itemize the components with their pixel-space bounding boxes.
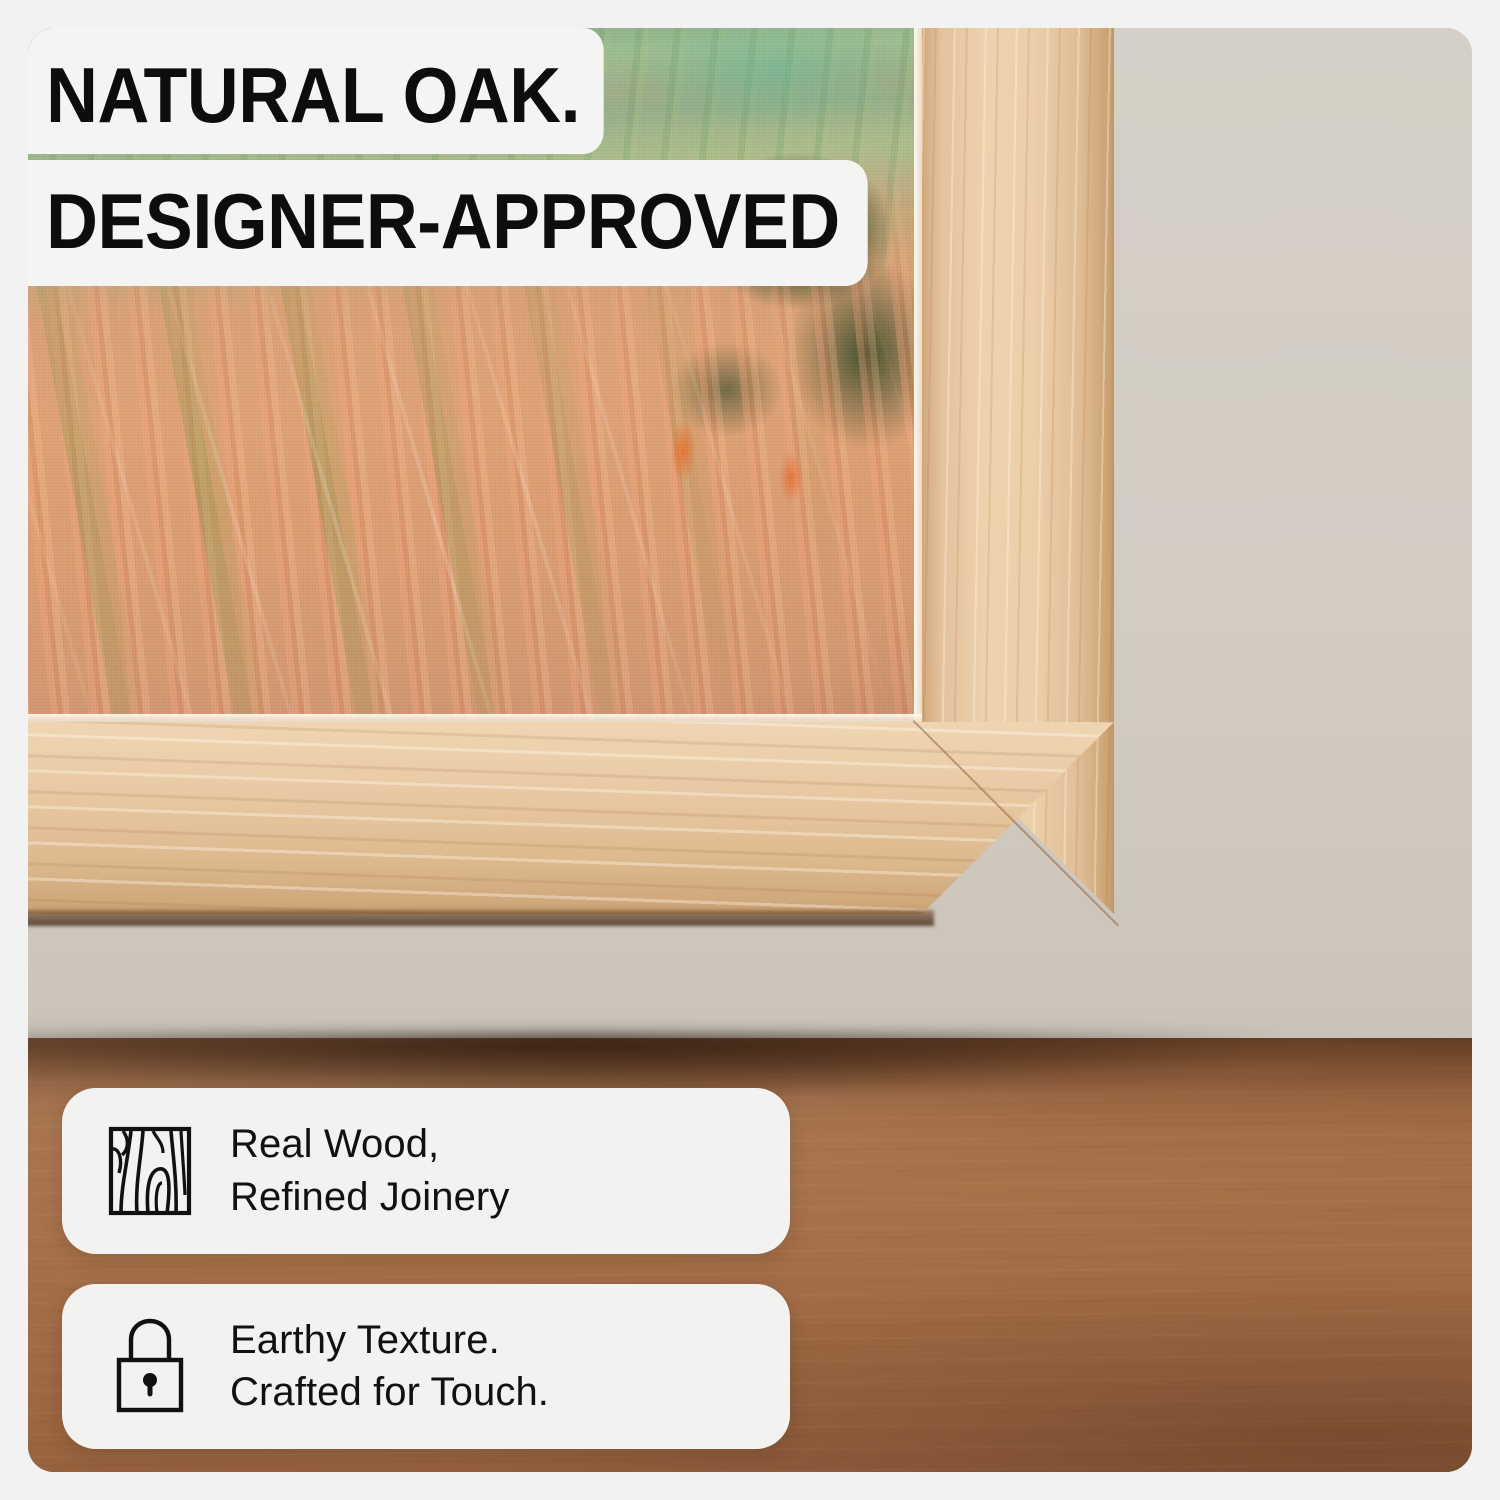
- feature-badge-earthy-texture[interactable]: Earthy Texture. Crafted for Touch.: [62, 1284, 790, 1450]
- feature-badge-real-wood[interactable]: Real Wood, Refined Joinery: [62, 1088, 790, 1254]
- badge-line-1: Earthy Texture.: [230, 1318, 500, 1362]
- padlock-icon: [104, 1320, 196, 1412]
- badge-line-2: Crafted for Touch.: [230, 1366, 549, 1419]
- badge-line-1: Real Wood,: [230, 1122, 439, 1166]
- product-feature-card: NATURAL OAK. DESIGNER-APPROVED: [0, 0, 1500, 1500]
- feature-badge-real-wood-text: Real Wood, Refined Joinery: [230, 1118, 509, 1224]
- product-photo: NATURAL OAK. DESIGNER-APPROVED: [28, 28, 1472, 1472]
- badge-line-2: Refined Joinery: [230, 1171, 509, 1224]
- feature-badge-earthy-texture-text: Earthy Texture. Crafted for Touch.: [230, 1314, 549, 1420]
- wood-grain-icon: [104, 1125, 196, 1217]
- headline-line-2: DESIGNER-APPROVED: [28, 160, 867, 286]
- frame-bottom-edge-shadow: [28, 910, 934, 926]
- headline-block: NATURAL OAK. DESIGNER-APPROVED: [28, 28, 1472, 286]
- frame-bottom-rail: [28, 722, 1114, 914]
- feature-badge-list: Real Wood, Refined Joinery Earthy Textur…: [62, 1088, 790, 1449]
- headline-line-1: NATURAL OAK.: [28, 28, 604, 154]
